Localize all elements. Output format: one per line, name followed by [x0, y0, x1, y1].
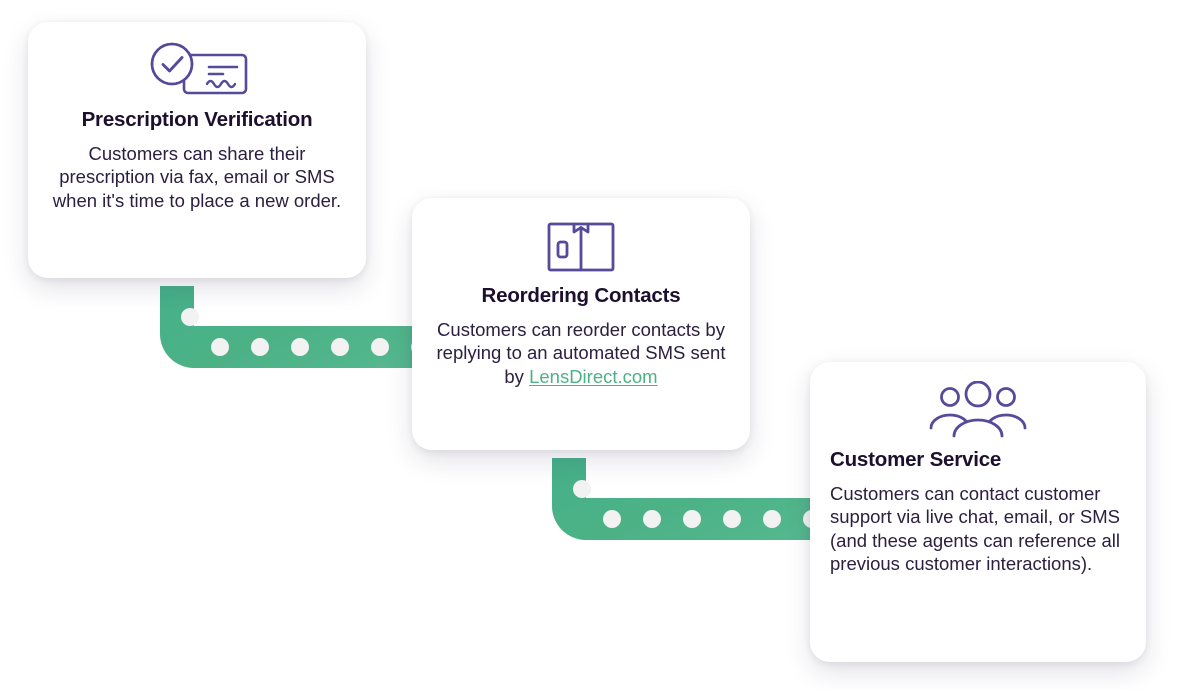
- connector-dot: [683, 510, 701, 528]
- connector-dot: [211, 338, 229, 356]
- card-title: Customer Service: [830, 448, 1126, 472]
- connector-dot: [603, 510, 621, 528]
- card-customer-service: Customer Service Customers can contact c…: [810, 362, 1146, 662]
- package-box-reorder-icon: [432, 216, 730, 278]
- card-body: Customers can share their prescription v…: [48, 142, 346, 212]
- card-title: Reordering Contacts: [432, 284, 730, 308]
- connector-dot: [371, 338, 389, 356]
- connector-dot: [723, 510, 741, 528]
- card-reordering-contacts: Reordering Contacts Customers can reorde…: [412, 198, 750, 450]
- card-title: Prescription Verification: [48, 108, 346, 132]
- connector-dot: [763, 510, 781, 528]
- connector-dot: [573, 480, 591, 498]
- connector-dot: [251, 338, 269, 356]
- lensdirect-link[interactable]: LensDirect.com: [529, 366, 658, 387]
- connector-dot: [643, 510, 661, 528]
- card-body: Customers can contact customer support v…: [830, 482, 1126, 576]
- infographic-canvas: Prescription Verification Customers can …: [0, 0, 1178, 690]
- card-body: Customers can reorder contacts by replyi…: [432, 318, 730, 388]
- card-prescription-verification: Prescription Verification Customers can …: [28, 22, 366, 278]
- prescription-document-check-icon: [48, 40, 346, 102]
- connector-card2-to-card3: [552, 458, 852, 540]
- connector-dot: [331, 338, 349, 356]
- connector-dot: [291, 338, 309, 356]
- connector-dot: [181, 308, 199, 326]
- people-group-icon: [830, 380, 1126, 442]
